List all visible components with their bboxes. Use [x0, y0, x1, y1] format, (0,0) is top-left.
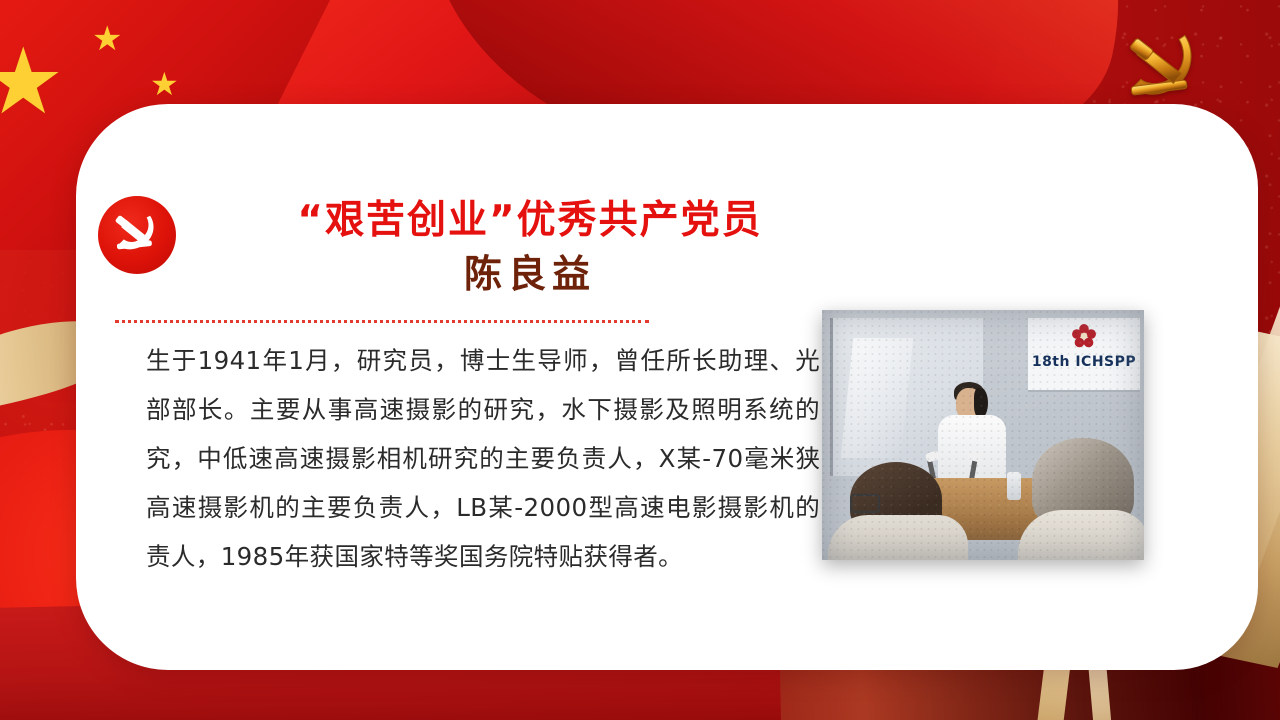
flag-star-small-2: ★ — [150, 68, 179, 100]
hammer-sickle-emblem — [1112, 24, 1208, 110]
portrait-photo: 18th ICHSPP — [822, 310, 1144, 560]
title-block: “艰苦创业”优秀共产党员 陈良益 — [200, 196, 860, 300]
page-title: “艰苦创业”优秀共产党员 — [200, 196, 860, 246]
party-badge-icon — [98, 196, 176, 274]
person-name: 陈良益 — [200, 248, 860, 300]
flag-star-big: ★ — [0, 36, 64, 128]
biography-paragraph: 生于1941年1月，研究员，博士生导师，曾任所长助理、光工部部长。主要从事高速摄… — [146, 336, 846, 581]
flag-star-small-1: ★ — [92, 22, 122, 56]
dotted-divider — [115, 320, 649, 323]
content-card: “艰苦创业”优秀共产党员 陈良益 生于1941年1月，研究员，博士生导师，曾任所… — [76, 104, 1258, 670]
slide-root: ★ ★ ★ ★ ★ — [0, 0, 1280, 720]
photo-image: 18th ICHSPP — [822, 310, 1144, 560]
photo-vignette — [822, 310, 1144, 560]
